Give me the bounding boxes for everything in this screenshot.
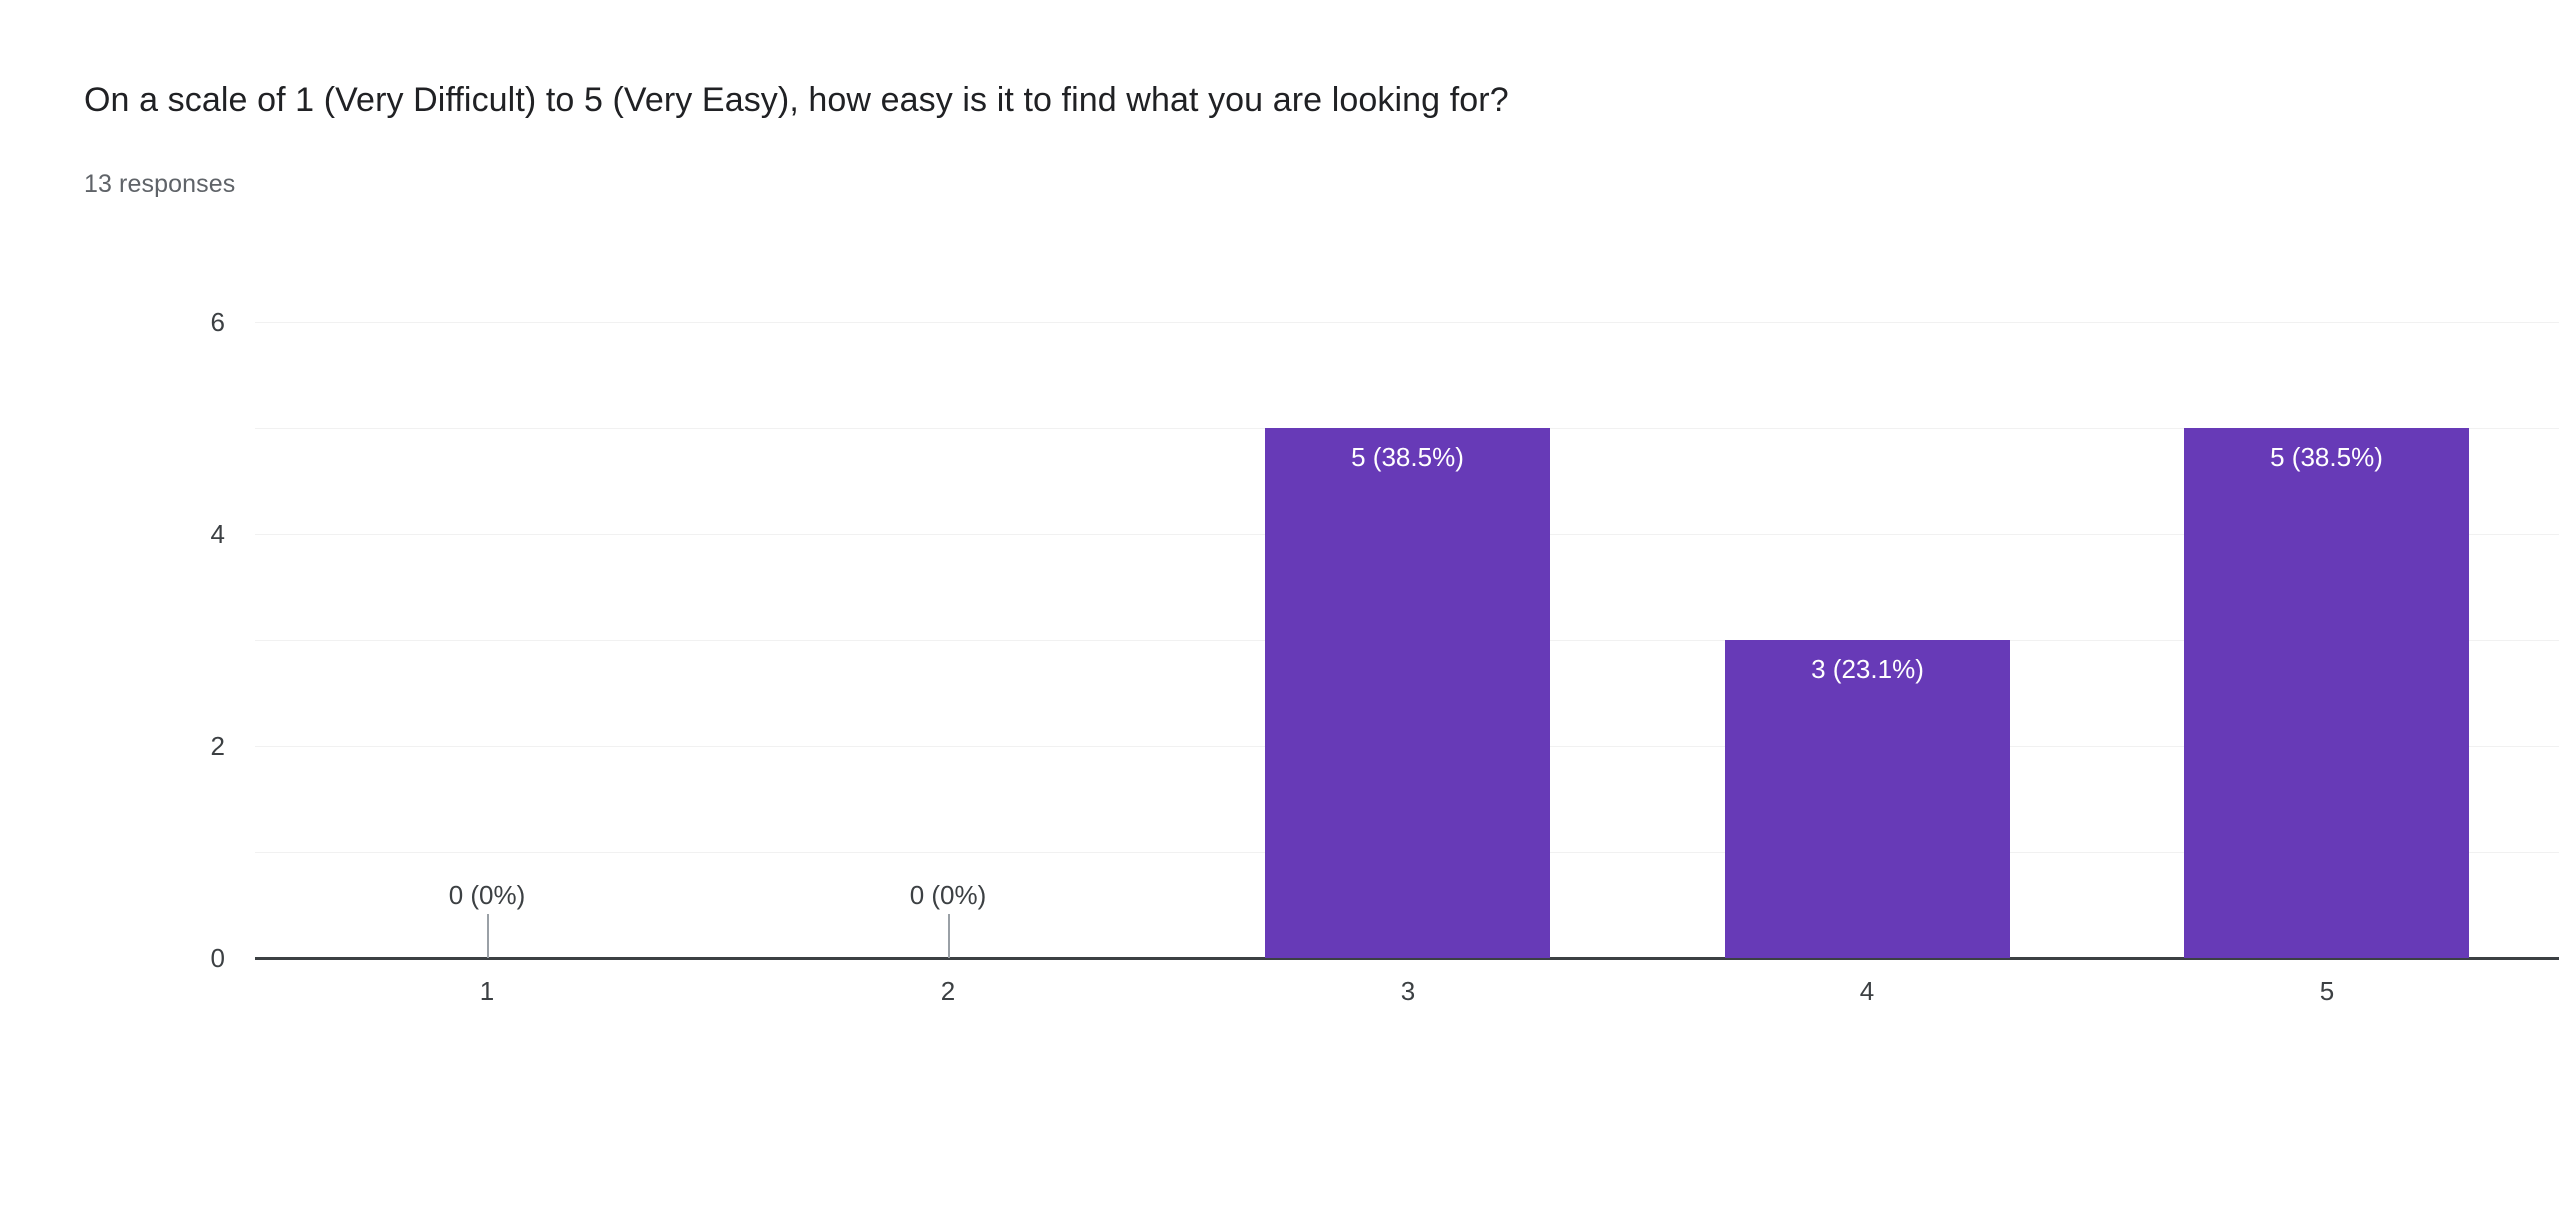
y-tick-label-0: 0 xyxy=(105,945,225,971)
gridline-6 xyxy=(255,322,2559,323)
y-tick-label-2: 2 xyxy=(105,733,225,759)
x-tick-label-4: 4 xyxy=(1767,976,1967,1006)
x-tick-label-2: 2 xyxy=(848,976,1048,1006)
bar-label-3: 5 (38.5%) xyxy=(1265,442,1550,472)
bar-3[interactable]: 5 (38.5%) xyxy=(1265,428,1550,958)
x-tick-label-1: 1 xyxy=(387,976,587,1006)
x-tick-label-5: 5 xyxy=(2227,976,2427,1006)
leader-line-2 xyxy=(948,914,950,958)
bar-5[interactable]: 5 (38.5%) xyxy=(2184,428,2469,958)
bar-label-2: 0 (0%) xyxy=(798,880,1098,910)
bar-chart: 6 4 2 0 0 (0%) 0 (0%) 5 (38.5%) 3 (23.1%… xyxy=(0,0,2559,1218)
x-tick-label-3: 3 xyxy=(1308,976,1508,1006)
leader-line-1 xyxy=(487,914,489,958)
bar-label-4: 3 (23.1%) xyxy=(1725,654,2010,684)
y-tick-label-4: 4 xyxy=(105,521,225,547)
y-tick-label-6: 6 xyxy=(105,309,225,335)
bar-label-5: 5 (38.5%) xyxy=(2184,442,2469,472)
response-chart-page: On a scale of 1 (Very Difficult) to 5 (V… xyxy=(0,0,2559,1218)
bar-4[interactable]: 3 (23.1%) xyxy=(1725,640,2010,958)
bar-label-1: 0 (0%) xyxy=(337,880,637,910)
